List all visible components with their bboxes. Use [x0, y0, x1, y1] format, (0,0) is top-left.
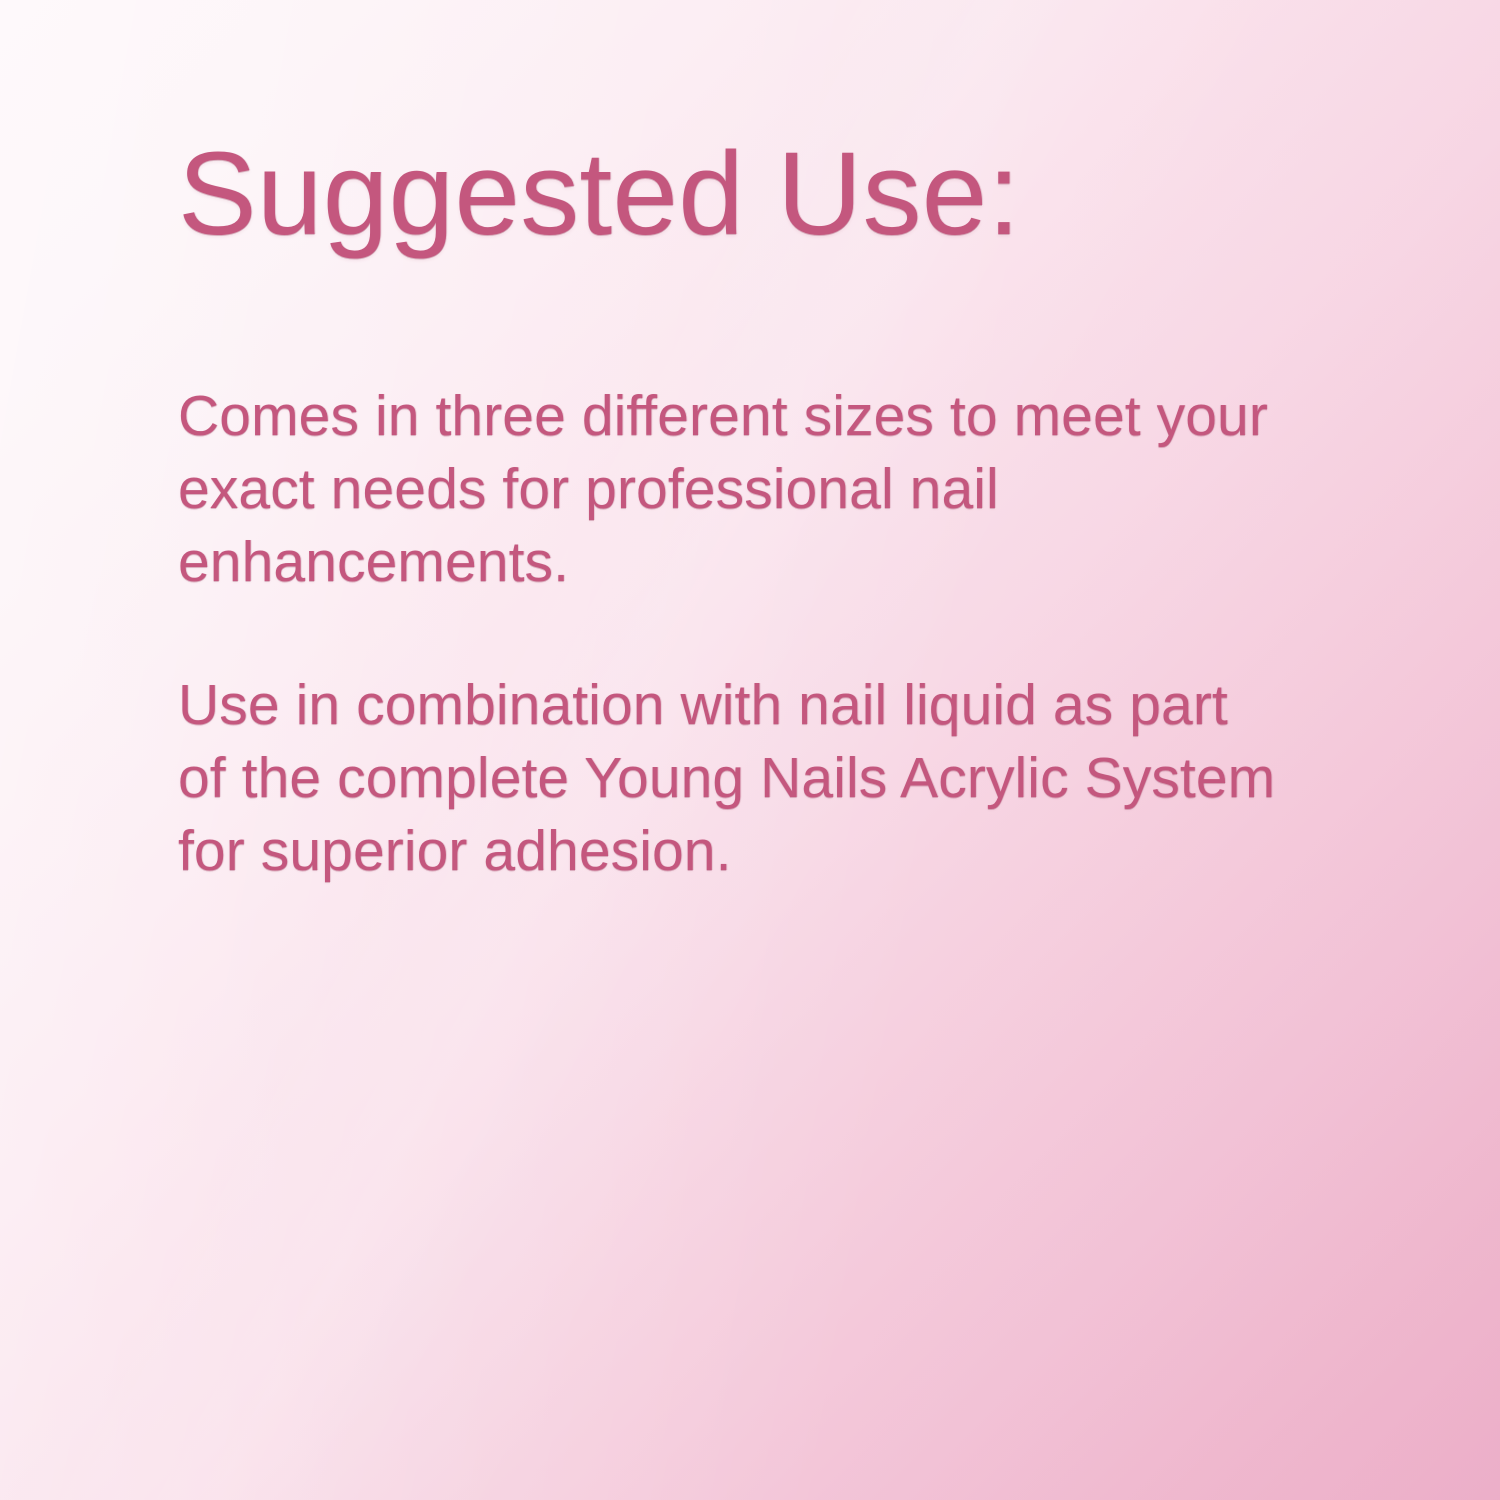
page-title: Suggested Use: [178, 128, 1288, 260]
content-block: Suggested Use: Comes in three different … [178, 128, 1288, 888]
suggested-use-paragraph-2: Use in combination with nail liquid as p… [178, 669, 1288, 888]
suggested-use-card: Suggested Use: Comes in three different … [0, 0, 1500, 1500]
suggested-use-paragraph-1: Comes in three different sizes to meet y… [178, 380, 1288, 599]
